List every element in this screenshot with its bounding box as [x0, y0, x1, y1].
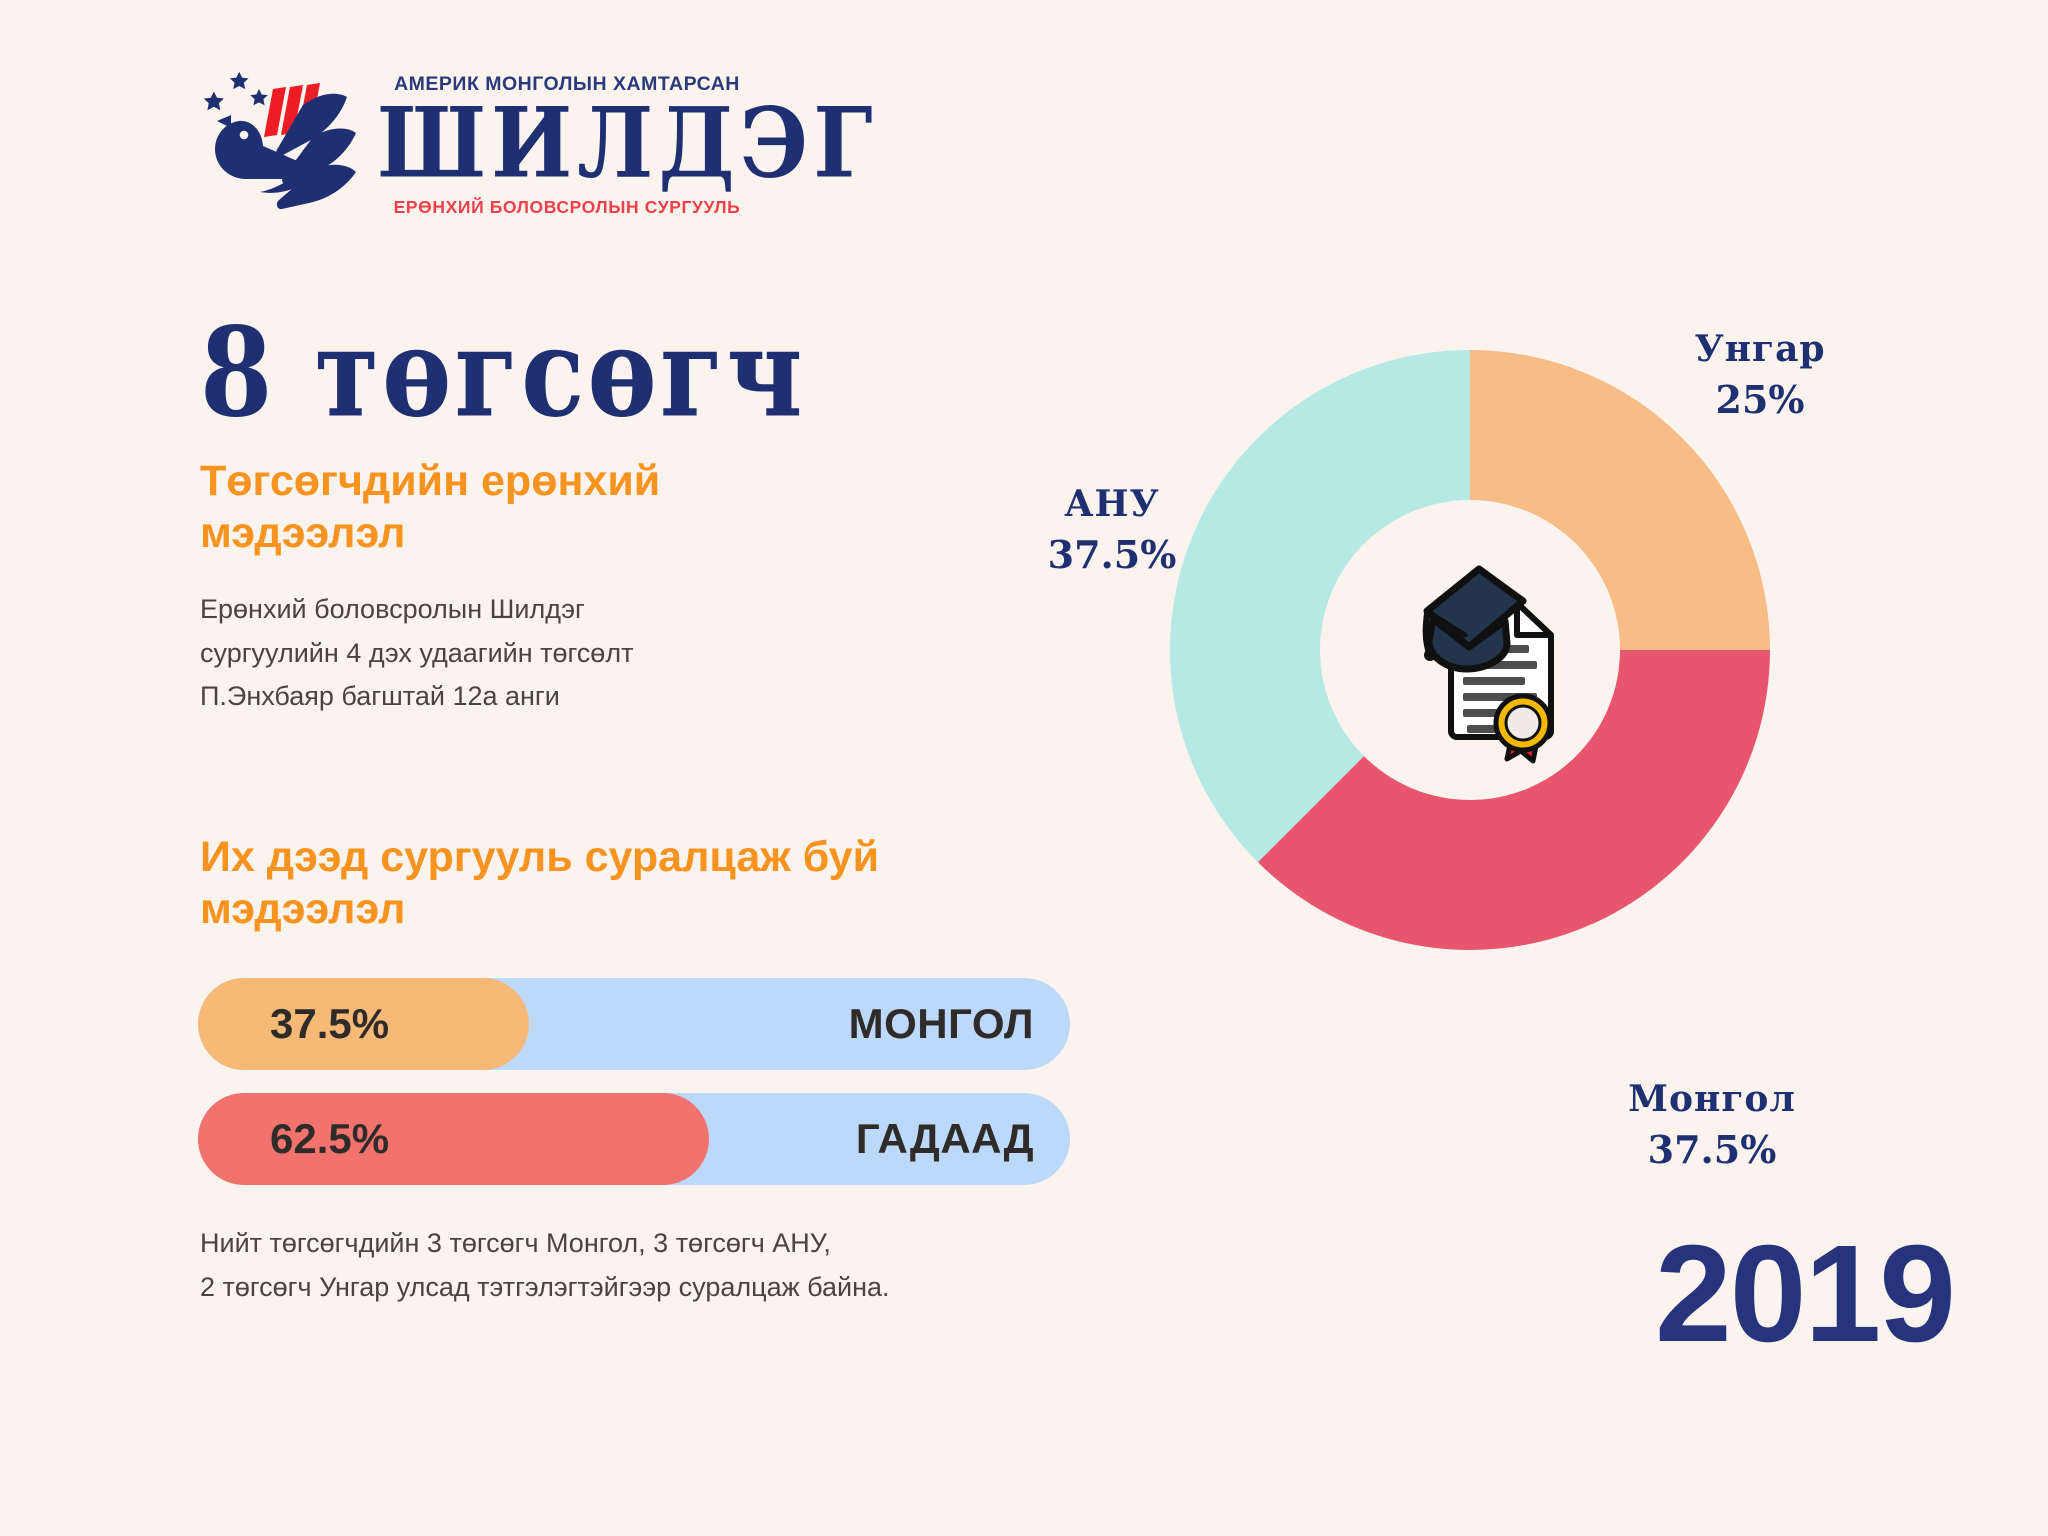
- body-line: Ерөнхий боловсролын Шилдэг: [200, 588, 840, 632]
- graduation-cap-and-diploma-icon: [1355, 535, 1585, 765]
- bar-row-gadaad: 62.5% ГАДААД: [198, 1093, 1070, 1185]
- donut-chart: [1150, 330, 1790, 970]
- logo-wordmark-group: АМЕРИК МОНГОЛЫН ХАМТАРСАН ШИЛДЭГ ЕРӨНХИЙ…: [377, 55, 757, 218]
- bar-label-gadaad: ГАДААД: [856, 1093, 1034, 1185]
- year-label: 2019: [1655, 1215, 1954, 1374]
- dove-with-stars-and-stripes-logo-icon: [195, 65, 370, 215]
- page-title: 8 төгсөгч: [200, 300, 806, 445]
- bar-label-mongol: МОНГОЛ: [849, 978, 1034, 1070]
- footnote-line: Нийт төгсөгчдийн 3 төгсөгч Монгол, 3 төг…: [200, 1222, 1100, 1266]
- donut-label-mongol-value: 37.5%: [1628, 1124, 1796, 1175]
- bar-value-mongol: 37.5%: [270, 978, 389, 1070]
- donut-label-mongol: Монгол 37.5%: [1628, 1075, 1796, 1175]
- school-logo: АМЕРИК МОНГОЛЫН ХАМТАРСАН ШИЛДЭГ ЕРӨНХИЙ…: [195, 55, 755, 220]
- donut-label-mongol-name: Монгол: [1628, 1075, 1796, 1124]
- footnote: Нийт төгсөгчдийн 3 төгсөгч Монгол, 3 төг…: [200, 1222, 1100, 1309]
- logo-wordmark: ШИЛДЭГ: [377, 98, 757, 190]
- donut-label-ungar-name: Унгар: [1694, 325, 1825, 374]
- infographic-page: АМЕРИК МОНГОЛЫН ХАМТАРСАН ШИЛДЭГ ЕРӨНХИЙ…: [0, 0, 2048, 1536]
- section-heading-university-info: Их дээд сургууль суралцаж буй мэдээлэл: [200, 832, 900, 935]
- horizontal-bar-chart: 37.5% МОНГОЛ 62.5% ГАДААД: [198, 978, 1070, 1208]
- footnote-line: 2 төгсөгч Унгар улсад тэтгэлэгтэйгээр су…: [200, 1266, 1100, 1310]
- donut-label-anu: АНУ 37.5%: [1048, 480, 1177, 580]
- donut-label-ungar: Унгар 25%: [1694, 325, 1825, 425]
- bar-value-gadaad: 62.5%: [270, 1093, 389, 1185]
- bar-row-mongol: 37.5% МОНГОЛ: [198, 978, 1070, 1070]
- body-line: П.Энхбаяр багштай 12а анги: [200, 675, 840, 719]
- section-heading-graduate-info: Төгсөгчдийн ерөнхий мэдээлэл: [200, 455, 860, 560]
- graduate-info-body: Ерөнхий боловсролын Шилдэг сургуулийн 4 …: [200, 588, 840, 719]
- body-line: сургуулийн 4 дэх удаагийн төгсөлт: [200, 632, 840, 676]
- donut-label-ungar-value: 25%: [1694, 374, 1825, 425]
- donut-label-anu-value: 37.5%: [1048, 529, 1177, 580]
- donut-label-anu-name: АНУ: [1048, 480, 1177, 529]
